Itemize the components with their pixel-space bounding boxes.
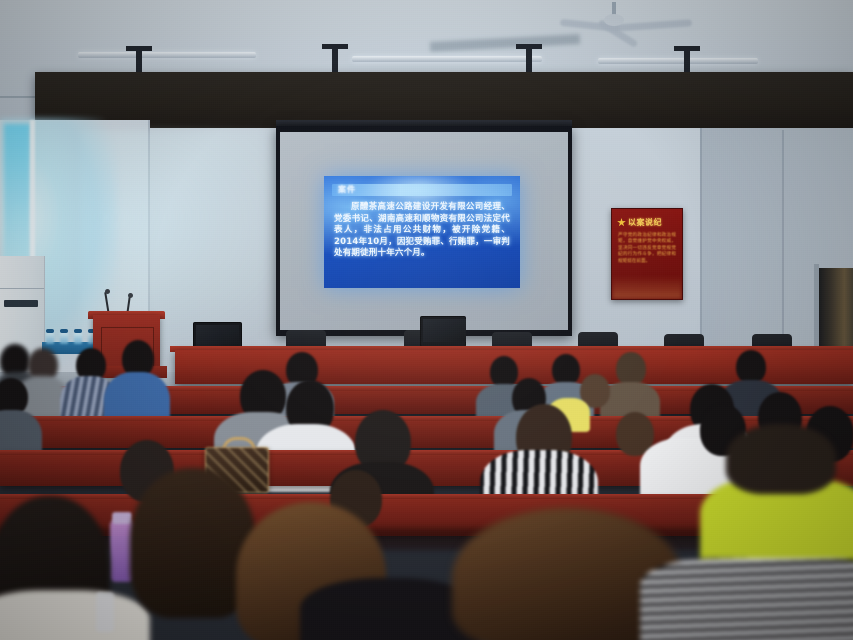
party-discipline-poster: 以案说纪 严守党的政治纪律和政治规矩，自觉维护党中央权威，坚决同一切违反党章党规… xyxy=(611,208,683,300)
window-pane xyxy=(4,124,30,274)
bottle-cap xyxy=(60,329,68,333)
ceiling-fan-hub xyxy=(604,14,624,26)
poster-body-text: 严守党的政治纪律和政治规矩，自觉维护党中央权威，坚决同一切违反党章党规党纪的行为… xyxy=(618,233,676,265)
cabinet-vent-icon xyxy=(4,300,38,307)
lecture-hall-photo: 案件 原醴茶高速公路建设开发有限公司经理、党委书记、湖南高速和顺物资有限公司法定… xyxy=(0,0,853,640)
cabinet-seam xyxy=(0,288,44,289)
foreground-attendee-body xyxy=(640,558,853,640)
water-bottle xyxy=(46,332,54,344)
water-bottle xyxy=(74,332,82,344)
foreground-attendee-body xyxy=(0,590,150,640)
secondary-monitor xyxy=(420,316,466,347)
microphone-head xyxy=(105,289,110,294)
poster-footer-graphic xyxy=(612,277,682,299)
party-emblem-icon xyxy=(617,218,626,227)
strip-light-icon xyxy=(352,56,542,62)
monitor-screen xyxy=(196,325,239,348)
projected-slide: 案件 原醴茶高速公路建设开发有限公司经理、党委书记、湖南高速和顺物资有限公司法定… xyxy=(324,176,520,288)
bottle-cap xyxy=(74,329,82,333)
microphone-head xyxy=(128,293,133,298)
monitor-screen xyxy=(423,319,466,342)
clear-water-bottle xyxy=(96,592,114,632)
slide-title: 案件 xyxy=(338,184,356,196)
water-bottle xyxy=(60,332,68,344)
strip-light-icon xyxy=(78,52,256,58)
slide-title-bar xyxy=(332,184,512,196)
strip-light-icon xyxy=(598,58,758,64)
bottle-cap xyxy=(46,329,54,333)
purple-bottle-cap xyxy=(112,512,132,524)
poster-heading: 以案说纪 xyxy=(628,217,662,228)
attendee-head xyxy=(736,350,766,384)
foreground-attendee-head xyxy=(726,424,836,494)
slide-body-text: 原醴茶高速公路建设开发有限公司经理、党委书记、湖南高速和顺物资有限公司法定代表人… xyxy=(334,202,510,260)
attendee-head xyxy=(616,352,646,386)
